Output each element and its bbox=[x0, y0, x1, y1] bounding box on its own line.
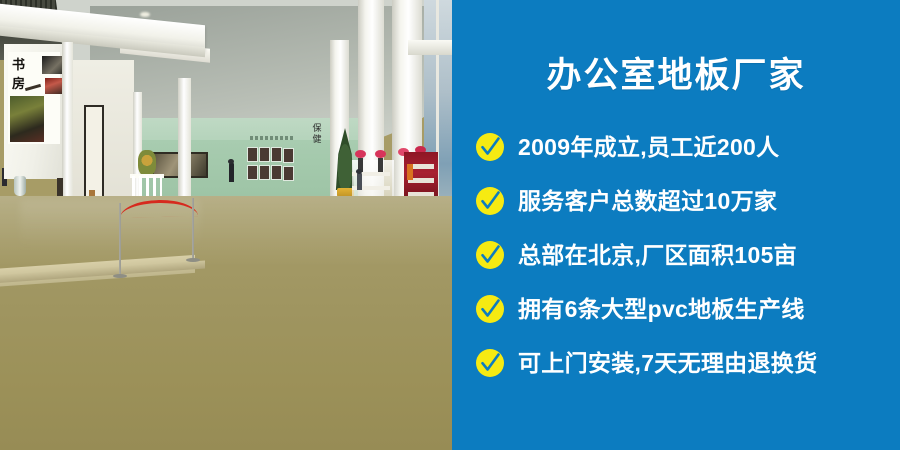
list-item: 服务客户总数超过10万家 bbox=[452, 174, 900, 228]
poster-calligraphy-text: 书房 bbox=[12, 56, 38, 76]
list-item: 总部在北京,厂区面积105亩 bbox=[452, 228, 900, 282]
visitor-2 bbox=[357, 172, 362, 190]
flower-vase-2 bbox=[378, 158, 383, 172]
horizontal-beam bbox=[408, 40, 452, 55]
check-circle-icon bbox=[475, 294, 505, 324]
exhibition-hall-photo: 保健 书房 bbox=[0, 0, 452, 450]
stanchion-post-2 bbox=[192, 198, 194, 260]
poster-image-1 bbox=[42, 56, 64, 74]
feature-list: 2009年成立,员工近200人 服务客户总数超过10万家 bbox=[452, 120, 900, 390]
wall-calligraphy: 保健 bbox=[310, 124, 324, 176]
middle-flower-arrangement bbox=[138, 150, 156, 176]
list-item-label: 总部在北京,厂区面积105亩 bbox=[518, 244, 797, 267]
visitor-2-head bbox=[356, 169, 362, 174]
promo-banner: 保健 书房 bbox=[0, 0, 900, 450]
list-item: 拥有6条大型pvc地板生产线 bbox=[452, 282, 900, 336]
visitor-1-head bbox=[228, 159, 234, 164]
poster-image-3 bbox=[10, 96, 44, 142]
stanchion-base-2 bbox=[186, 258, 200, 262]
check-circle-icon bbox=[475, 240, 505, 270]
wall-picture-frames bbox=[248, 148, 306, 182]
list-item-label: 拥有6条大型pvc地板生产线 bbox=[518, 298, 805, 321]
flower-bloom-1 bbox=[355, 150, 366, 158]
list-item-label: 服务客户总数超过10万家 bbox=[518, 190, 777, 213]
flower-bloom-2 bbox=[375, 150, 386, 158]
check-circle-icon bbox=[475, 186, 505, 216]
stanchion-post-1 bbox=[119, 203, 121, 276]
visitor-3 bbox=[407, 164, 413, 180]
glass-vase bbox=[14, 176, 26, 196]
check-circle-icon bbox=[475, 132, 505, 162]
list-item: 2009年成立,员工近200人 bbox=[452, 120, 900, 174]
check-circle-icon bbox=[475, 348, 505, 378]
list-item-label: 可上门安装,7天无理由退换货 bbox=[518, 352, 817, 375]
blue-info-panel: 办公室地板厂家 2009年成立,员工近200人 bbox=[452, 0, 900, 450]
list-item-label: 2009年成立,员工近200人 bbox=[518, 136, 779, 159]
table-lamp bbox=[57, 178, 63, 196]
list-item: 可上门安装,7天无理由退换货 bbox=[452, 336, 900, 390]
visitor-1 bbox=[229, 162, 234, 182]
downlight-icon bbox=[140, 12, 150, 17]
page-title: 办公室地板厂家 bbox=[452, 58, 900, 93]
stanchion-base-1 bbox=[113, 274, 127, 278]
wall-signage-text bbox=[250, 136, 294, 140]
